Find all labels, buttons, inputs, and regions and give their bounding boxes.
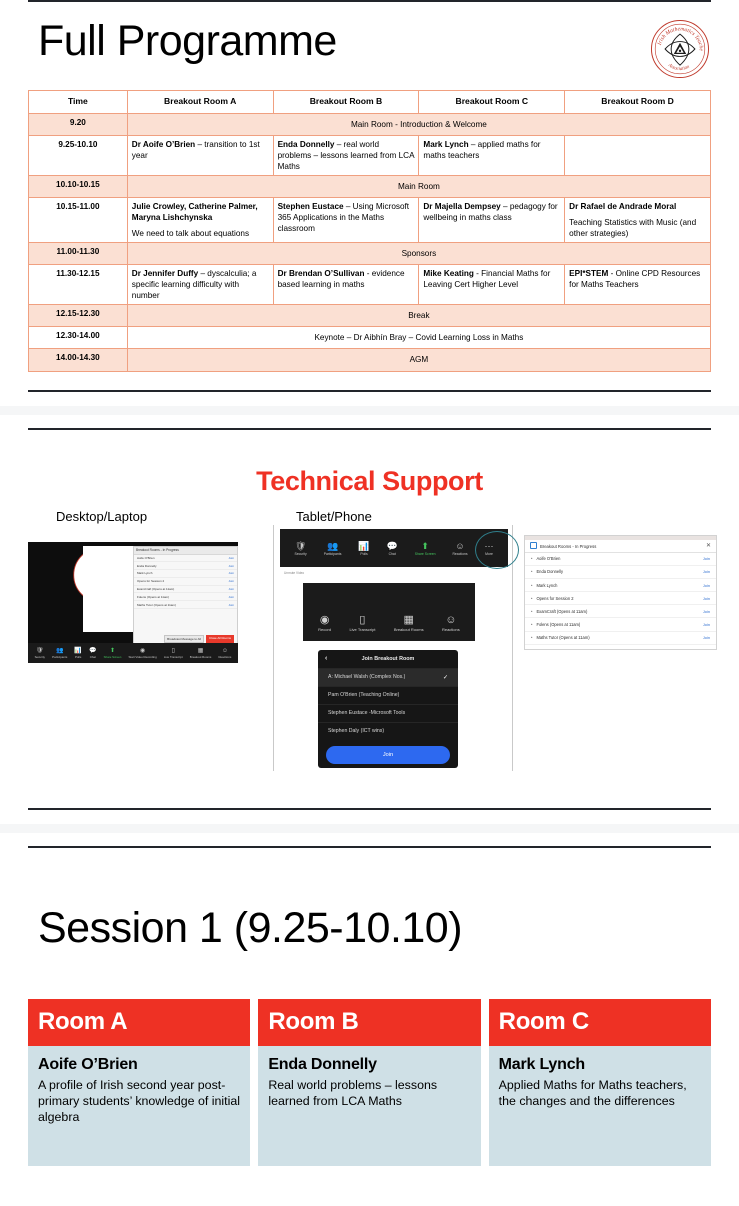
cell-room-a: Dr Aoife O’Brien – transition to 1st yea…: [127, 135, 273, 175]
cell-time: 9.25-10.10: [29, 135, 128, 175]
technical-support-body: Desktop/Laptop Tablet/Phone Breako: [28, 507, 711, 777]
broadcast-message-button[interactable]: Broadcast Message to All: [164, 635, 204, 643]
emoji-icon: ☺: [452, 540, 467, 552]
panel-footer: Broadcast Message to All Close All Rooms: [133, 635, 236, 643]
share-screen-icon: ⬆: [415, 540, 436, 552]
record-icon: ◉: [128, 647, 156, 655]
card-header: Room B: [258, 999, 480, 1046]
cell-room-d: EPI*STEM - Online CPD Resources for Math…: [565, 265, 711, 305]
room-name: Stephen Daly (ICT wins): [328, 728, 384, 734]
speaker-name: Enda Donnelly: [268, 1056, 470, 1074]
card-room-a: Room A Aoife O’Brien A profile of Irish …: [28, 999, 250, 1166]
room-name: Pam O'Brien (Teaching Online): [328, 692, 399, 698]
table-row: 10.15-11.00 Julie Crowley, Catherine Pal…: [29, 197, 711, 242]
button-label: Breakout Rooms: [394, 627, 424, 632]
session-desc: Teaching Statistics with Music (and othe…: [569, 217, 706, 239]
imta-logo-icon: Irish Mathematics Teachers Association: [649, 18, 711, 80]
join-link[interactable]: Join: [703, 556, 710, 561]
cell-spanning: Break: [127, 305, 710, 327]
join-link[interactable]: Join: [703, 622, 710, 627]
cell-time: 11.30-12.15: [29, 265, 128, 305]
cell-room-c: Mark Lynch – applied maths for maths tea…: [419, 135, 565, 175]
bullet-icon: •: [531, 556, 532, 561]
share-screen-button[interactable]: ⬆Share Screen: [415, 540, 436, 556]
table-row: 12.15-12.30 Break: [29, 305, 711, 327]
chat-button[interactable]: 💬Chat: [387, 540, 398, 556]
security-button[interactable]: 🛡Security: [294, 540, 306, 556]
speaker-name: Aoife O’Brien: [38, 1056, 240, 1074]
label-desktop-laptop: Desktop/Laptop: [56, 509, 147, 524]
section-title: Technical Support: [28, 466, 711, 497]
speaker-name: Dr Rafael de Andrade Moral: [569, 202, 676, 211]
panel-title: Join Breakout Room: [362, 656, 415, 662]
card-room-c: Room C Mark Lynch Applied Maths for Math…: [489, 999, 711, 1166]
tablet-zoom-toolbar: 🛡Security 👥Participants 📊Polls 💬Chat ⬆Sh…: [280, 529, 508, 567]
shield-icon: 🛡: [294, 540, 306, 552]
speech-bubble-icon: 💬: [89, 647, 96, 655]
list-item[interactable]: Stephen Eustace -Microsoft Tools: [318, 704, 458, 722]
room-row: •Folens (Opens at 11am)Join: [525, 618, 716, 631]
speaker-name: Mark Lynch: [423, 140, 468, 149]
zoom-toolbar: 🛡Security 👥Participants 📊Polls 💬Chat ⬆Sh…: [28, 643, 238, 663]
join-link[interactable]: Join: [703, 596, 710, 601]
people-icon: 👥: [324, 540, 342, 552]
slide-separator: [0, 810, 739, 846]
cell-spanning: Keynote – Dr Aibhín Bray – Covid Learnin…: [127, 327, 710, 349]
speaker-name: Dr Jennifer Duffy: [132, 269, 198, 278]
room-row: Aoife O'BrienJoin: [134, 555, 237, 563]
room-row: •Aoife O'BrienJoin: [525, 553, 716, 566]
bullet-icon: •: [531, 596, 532, 601]
emoji-icon: ☺: [218, 647, 231, 655]
participants-button[interactable]: 👥Participants: [324, 540, 342, 556]
join-link[interactable]: Join: [228, 579, 234, 583]
button-label: Chat: [90, 655, 96, 659]
room-name: •Enda Donnelly: [531, 569, 563, 574]
session-desc: Applied Maths for Maths teachers, the ch…: [499, 1077, 701, 1110]
room-row: Enda DonnellyJoin: [134, 562, 237, 570]
participants-button[interactable]: 👥Participants: [52, 647, 67, 659]
card-header: Room A: [28, 999, 250, 1046]
room-row: Folens (Opens at 11am)Join: [134, 593, 237, 601]
session-desc: A profile of Irish second year post-prim…: [38, 1077, 240, 1126]
button-label: Polls: [75, 655, 81, 659]
breakout-rooms-button[interactable]: ▦Breakout Rooms: [394, 613, 424, 632]
bar-chart-icon: 📊: [74, 647, 81, 655]
cell-room-b: Enda Donnelly – real world problems – le…: [273, 135, 419, 175]
speaker-name: Mike Keating: [423, 269, 474, 278]
chat-button[interactable]: 💬Chat: [89, 647, 96, 659]
speaker-name: Julie Crowley, Catherine Palmer, Maryna …: [132, 202, 258, 222]
session-cards: Room A Aoife O’Brien A profile of Irish …: [28, 999, 711, 1166]
col-header-room-b: Breakout Room B: [273, 91, 419, 114]
join-link[interactable]: Join: [228, 571, 234, 575]
table-header-row: Time Breakout Room A Breakout Room B Bre…: [29, 91, 711, 114]
polls-button[interactable]: 📊Polls: [358, 540, 369, 556]
close-all-rooms-button[interactable]: Close All Rooms: [206, 635, 234, 643]
col-header-room-c: Breakout Room C: [419, 91, 565, 114]
table-row: 11.00-11.30 Sponsors: [29, 243, 711, 265]
programme-table: Time Breakout Room A Breakout Room B Bre…: [28, 90, 711, 372]
button-label: Participants: [52, 655, 67, 659]
closed-caption-icon: ▯: [164, 647, 183, 655]
presentation-page: Full Programme Irish Mathematics Teacher…: [0, 0, 739, 1206]
session-desc: Real world problems – lessons learned fr…: [268, 1077, 470, 1110]
button-label: Start Video Recording: [128, 655, 156, 659]
button-label: Security: [35, 655, 45, 659]
room-name: •Mark Lynch: [531, 583, 557, 588]
cell-room-d: [565, 135, 711, 175]
table-row: 10.10-10.15 Main Room: [29, 175, 711, 197]
more-button[interactable]: ⋯More: [485, 540, 494, 556]
cell-time: 14.00-14.30: [29, 349, 128, 371]
button-label: Reactions: [218, 655, 231, 659]
share-screen-button[interactable]: ⬆Share Screen: [104, 647, 122, 659]
bullet-icon: •: [531, 635, 532, 640]
button-label: Live Transcript: [349, 627, 375, 632]
page-title: Session 1 (9.25-10.10): [38, 904, 711, 953]
room-name: Stephen Eustace -Microsoft Tools: [328, 710, 405, 716]
button-label: Polls: [360, 552, 367, 556]
button-label: Share Screen: [415, 552, 436, 556]
join-link[interactable]: Join: [703, 609, 710, 614]
highlight-circle-annotation: [475, 531, 519, 569]
window-title: Breakout Rooms - In Progress: [530, 542, 596, 549]
join-button[interactable]: Join: [326, 746, 450, 764]
room-name: •Aoife O'Brien: [531, 556, 560, 561]
card-body: Mark Lynch Applied Maths for Maths teach…: [489, 1046, 711, 1166]
record-icon: ◉: [318, 613, 331, 627]
button-label: Reactions: [452, 552, 467, 556]
speech-bubble-icon: 💬: [387, 540, 398, 552]
button-label: Breakout Rooms: [190, 655, 212, 659]
reactions-button[interactable]: ☺Reactions: [442, 613, 460, 632]
room-name: A: Michael Walsh (Complex Nos.): [328, 674, 405, 680]
slide-separator: [0, 392, 739, 428]
cell-room-a: Dr Jennifer Duffy – dyscalculia; a speci…: [127, 265, 273, 305]
room-name: •Opens for Session 2: [531, 596, 574, 601]
room-row: Opens for Session 2Join: [134, 578, 237, 586]
room-row: Maths Tutor (Opens at 11am)Join: [134, 601, 237, 609]
column-divider-left: [273, 525, 274, 771]
room-name: Mark Lynch: [137, 571, 152, 575]
button-label: Reactions: [442, 627, 460, 632]
label-tablet-phone: Tablet/Phone: [296, 509, 372, 524]
share-screen-icon: ⬆: [104, 647, 122, 655]
people-icon: 👥: [52, 647, 67, 655]
speaker-name: Enda Donnelly: [278, 140, 335, 149]
speaker-name: Stephen Eustace: [278, 202, 344, 211]
button-label: Share Screen: [104, 655, 122, 659]
cell-room-a: Julie Crowley, Catherine Palmer, Maryna …: [127, 197, 273, 242]
polls-button[interactable]: 📊Polls: [74, 647, 81, 659]
room-name: Aoife O'Brien: [137, 556, 155, 560]
speaker-name: Mark Lynch: [499, 1056, 701, 1074]
shield-icon: 🛡: [35, 647, 45, 655]
security-button[interactable]: 🛡Security: [35, 647, 45, 659]
join-link[interactable]: Join: [703, 635, 710, 640]
live-transcript-button[interactable]: ▯Live Transcript: [164, 647, 183, 659]
panel-title-bar: ‹ Join Breakout Room: [318, 650, 458, 668]
session-desc: We need to talk about equations: [132, 228, 269, 239]
button-label: Live Transcript: [164, 655, 183, 659]
desktop-zoom-screenshot: Breakout Rooms - In Progress Aoife O'Bri…: [28, 542, 238, 663]
bullet-icon: •: [531, 622, 532, 627]
room-name: Opens for Session 2: [137, 579, 164, 583]
col-header-time: Time: [29, 91, 128, 114]
record-button[interactable]: ◉Record: [318, 613, 331, 632]
room-name: Folens (Opens at 11am): [137, 595, 169, 599]
join-link[interactable]: Join: [228, 587, 234, 591]
cell-time: 10.15-11.00: [29, 197, 128, 242]
grid-icon: ▦: [190, 647, 212, 655]
record-button[interactable]: ◉Start Video Recording: [128, 647, 156, 659]
join-link[interactable]: Join: [228, 595, 234, 599]
chevron-left-icon[interactable]: ‹: [325, 655, 327, 662]
cell-spanning: Main Room - Introduction & Welcome: [127, 113, 710, 135]
grid-icon: ▦: [394, 613, 424, 627]
room-row: •ExamCraft (Opens at 11am)Join: [525, 605, 716, 618]
table-row: 11.30-12.15 Dr Jennifer Duffy – dyscalcu…: [29, 265, 711, 305]
button-label: Security: [294, 552, 306, 556]
room-name: ExamCraft (Opens at 11am): [137, 587, 174, 591]
join-link[interactable]: Join: [228, 603, 234, 607]
cell-time: 11.00-11.30: [29, 243, 128, 265]
slide-full-programme: Full Programme Irish Mathematics Teacher…: [0, 0, 739, 392]
cell-time: 9.20: [29, 113, 128, 135]
cell-room-d: Dr Rafael de Andrade MoralTeaching Stati…: [565, 197, 711, 242]
speaker-name: Dr Aoife O’Brien: [132, 140, 195, 149]
join-breakout-room-panel: ‹ Join Breakout Room A: Michael Walsh (C…: [318, 650, 458, 768]
bullet-icon: •: [531, 609, 532, 614]
breakout-rooms-panel: Breakout Rooms - In Progress Aoife O'Bri…: [133, 546, 238, 648]
reactions-button[interactable]: ☺Reactions: [452, 540, 467, 556]
table-row: 9.25-10.10 Dr Aoife O’Brien – transition…: [29, 135, 711, 175]
live-transcript-button[interactable]: ▯Live Transcript: [349, 613, 375, 632]
room-row: •Maths Tutor (Opens at 11am)Join: [525, 632, 716, 645]
tablet-more-menu: ◉Record ▯Live Transcript ▦Breakout Rooms…: [303, 583, 475, 641]
list-item[interactable]: A: Michael Walsh (Complex Nos.)✓: [318, 668, 458, 686]
join-link[interactable]: Join: [228, 556, 234, 560]
cell-spanning: AGM: [127, 349, 710, 371]
cell-room-b: Stephen Eustace – Using Microsoft 365 Ap…: [273, 197, 419, 242]
cell-room-b: Dr Brendan O’Sullivan - evidence based l…: [273, 265, 419, 305]
join-link[interactable]: Join: [228, 564, 234, 568]
button-label: Chat: [389, 552, 396, 556]
cell-time: 12.15-12.30: [29, 305, 128, 327]
room-name: •Maths Tutor (Opens at 11am): [531, 635, 590, 640]
list-item[interactable]: Stephen Daly (ICT wins): [318, 722, 458, 740]
room-name: •ExamCraft (Opens at 11am): [531, 609, 587, 614]
cell-spanning: Main Room: [127, 175, 710, 197]
closed-caption-icon: ▯: [349, 613, 375, 627]
speaker-name: Dr Brendan O’Sullivan: [278, 269, 365, 278]
tablet-toolbar-subtext: Unmute Video: [284, 571, 304, 575]
room-name: •Folens (Opens at 11am): [531, 622, 580, 627]
app-icon: [530, 542, 537, 549]
close-icon[interactable]: ✕: [706, 542, 711, 549]
card-body: Enda Donnelly Real world problems – less…: [258, 1046, 480, 1166]
bar-chart-icon: 📊: [358, 540, 369, 552]
card-header: Room C: [489, 999, 711, 1046]
bullet-icon: •: [531, 583, 532, 588]
cell-room-c: Mike Keating - Financial Maths for Leavi…: [419, 265, 565, 305]
table-row: 12.30-14.00 Keynote – Dr Aibhín Bray – C…: [29, 327, 711, 349]
room-name: Maths Tutor (Opens at 11am): [137, 603, 176, 607]
room-row: •Enda DonnellyJoin: [525, 566, 716, 579]
room-row: Mark LynchJoin: [134, 570, 237, 578]
slide1-header: Full Programme Irish Mathematics Teacher…: [28, 16, 711, 80]
button-label: Record: [318, 627, 331, 632]
window-title-bar: Breakout Rooms - In Progress ✕: [525, 540, 716, 553]
list-item[interactable]: Pam O'Brien (Teaching Online): [318, 686, 458, 704]
reactions-button[interactable]: ☺Reactions: [218, 647, 231, 659]
card-body: Aoife O’Brien A profile of Irish second …: [28, 1046, 250, 1166]
cell-time: 12.30-14.00: [29, 327, 128, 349]
table-row: 14.00-14.30 AGM: [29, 349, 711, 371]
page-title: Full Programme: [38, 18, 337, 65]
cell-time: 10.10-10.15: [29, 175, 128, 197]
join-link[interactable]: Join: [703, 569, 710, 574]
slide-session-1: Session 1 (9.25-10.10) Room A Aoife O’Br…: [0, 846, 739, 1206]
room-name: Enda Donnelly: [137, 564, 157, 568]
emoji-icon: ☺: [442, 613, 460, 627]
speaker-name: Dr Majella Dempsey: [423, 202, 500, 211]
panel-title: Breakout Rooms - In Progress: [134, 547, 237, 555]
breakout-rooms-button[interactable]: ▦Breakout Rooms: [190, 647, 212, 659]
speaker-name: EPI*STEM: [569, 269, 608, 278]
room-row: •Mark LynchJoin: [525, 579, 716, 592]
card-room-b: Room B Enda Donnelly Real world problems…: [258, 999, 480, 1166]
col-header-room-a: Breakout Room A: [127, 91, 273, 114]
col-header-room-d: Breakout Room D: [565, 91, 711, 114]
bullet-icon: •: [531, 569, 532, 574]
room-row: •Opens for Session 2Join: [525, 592, 716, 605]
slide-technical-support: Technical Support Desktop/Laptop Tablet/…: [0, 428, 739, 810]
cell-room-c: Dr Majella Dempsey – pedagogy for wellbe…: [419, 197, 565, 242]
room-row: ExamCraft (Opens at 11am)Join: [134, 586, 237, 594]
button-label: Participants: [324, 552, 342, 556]
breakout-rooms-window: Breakout Rooms - In Progress ✕ •Aoife O'…: [524, 535, 717, 650]
join-link[interactable]: Join: [703, 583, 710, 588]
cell-spanning: Sponsors: [127, 243, 710, 265]
table-row: 9.20 Main Room - Introduction & Welcome: [29, 113, 711, 135]
check-icon: ✓: [443, 674, 448, 681]
